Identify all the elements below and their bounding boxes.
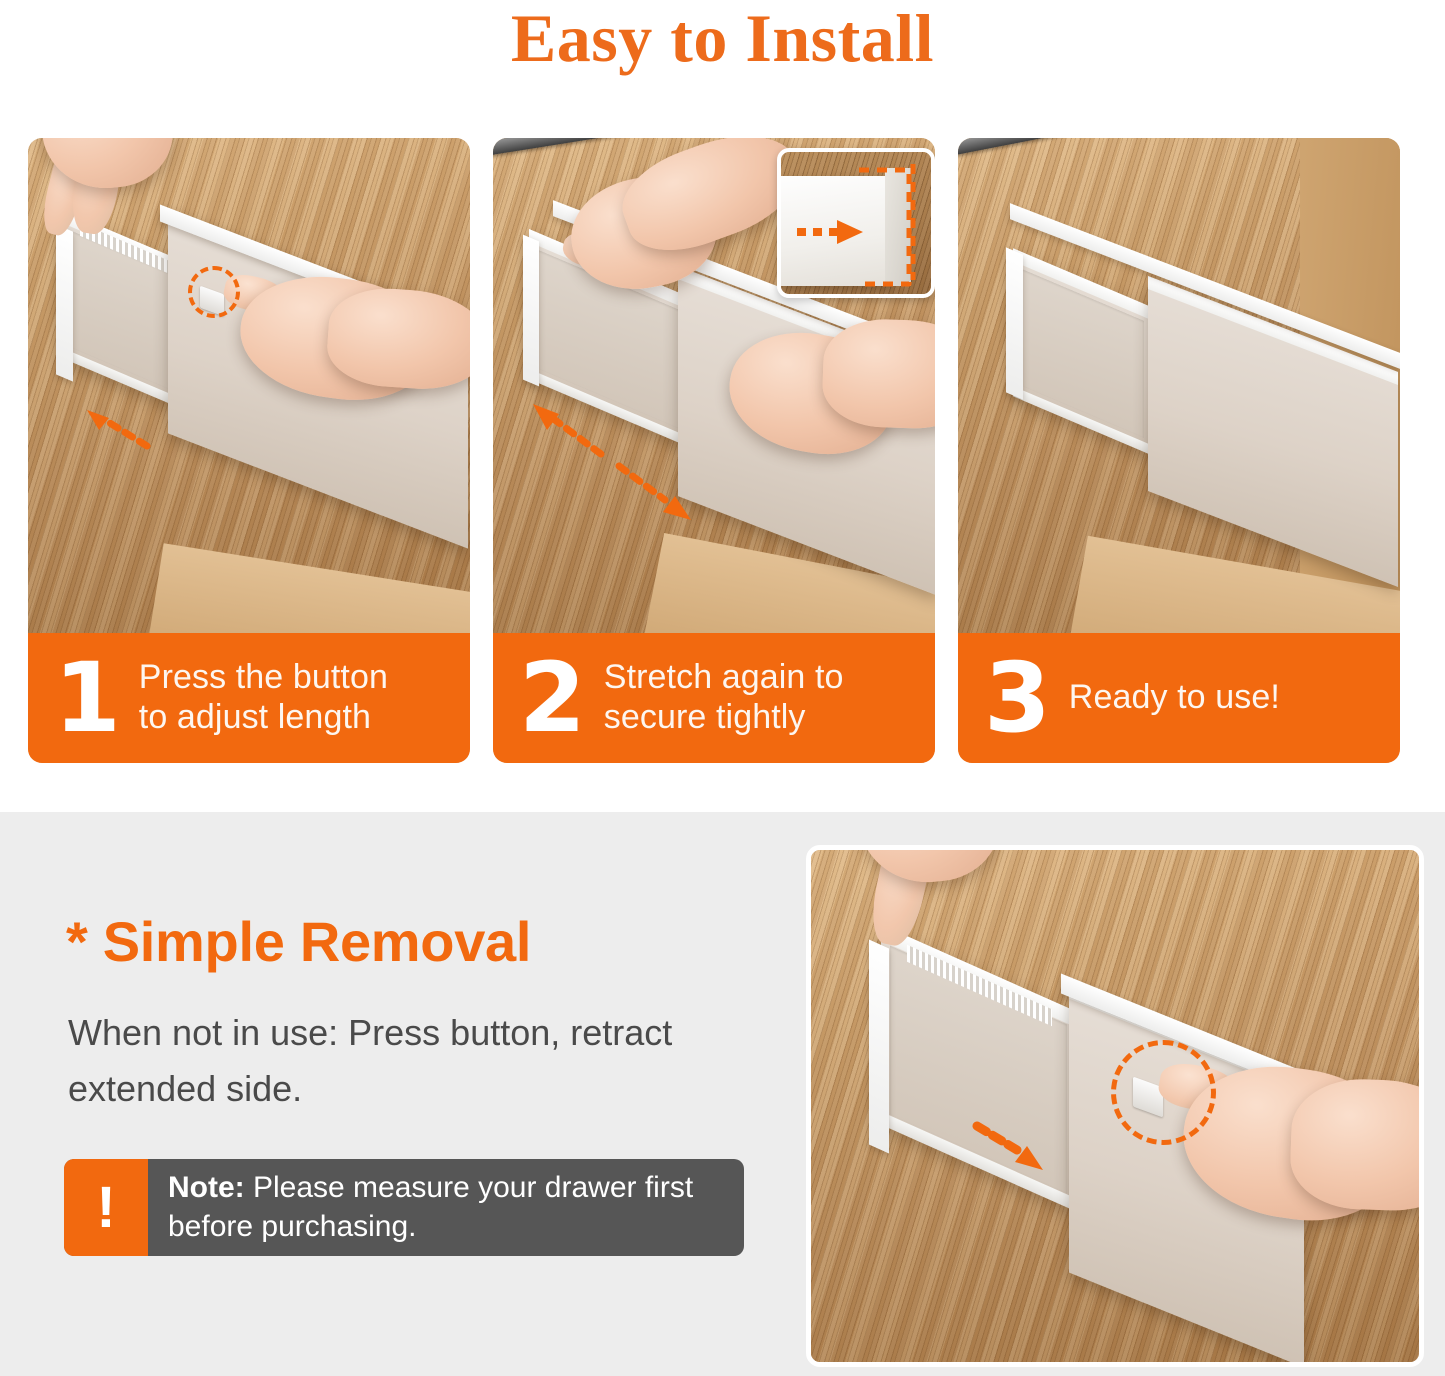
dashed-arrow-left-icon [83, 406, 153, 454]
step-1-number: 1 [54, 657, 121, 740]
step-2-photo [493, 138, 935, 633]
button-highlight-circle-icon [1111, 1040, 1216, 1145]
simple-removal-section: * Simple Removal When not in use: Press … [0, 812, 1445, 1376]
exclamation-icon: ! [64, 1159, 148, 1256]
inset-detail-box [777, 148, 935, 298]
note-label: Note: [168, 1171, 245, 1204]
note-text: Note: Please measure your drawer first b… [148, 1159, 744, 1256]
arrow-right-icon [971, 1120, 1061, 1176]
inset-dashed-outline-icon [781, 152, 935, 298]
button-highlight-circle-icon [188, 266, 240, 318]
divider-left-end-cap [1006, 247, 1023, 399]
install-steps-section: Easy to Install [0, 0, 1445, 812]
divider-left-end-cap [523, 235, 539, 387]
dashed-arrow-up-left-icon [525, 400, 615, 462]
step-3-number: 3 [984, 657, 1051, 740]
step-card-1: 1 Press the button to adjust length [28, 138, 470, 763]
step-3-label: Ready to use! [1069, 678, 1280, 718]
divider-left-end-cap [869, 940, 889, 1154]
step-2-label: Stretch again to secure tightly [604, 658, 844, 738]
forearm [1289, 1077, 1424, 1213]
removal-description: When not in use: Press button, retract e… [68, 1005, 768, 1117]
step-1-photo [28, 138, 470, 633]
note-body: Please measure your drawer first before … [168, 1171, 693, 1243]
step-3-photo [958, 138, 1400, 633]
step-2-caption-bar: 2 Stretch again to secure tightly [493, 633, 935, 763]
step-2-number: 2 [519, 657, 586, 740]
step-3-caption-bar: 3 Ready to use! [958, 633, 1400, 763]
step-card-2: 2 Stretch again to secure tightly [493, 138, 935, 763]
divider-left-end-cap [56, 224, 73, 381]
note-box: ! Note: Please measure your drawer first… [64, 1159, 744, 1256]
dashed-arrow-down-right-icon [613, 458, 708, 530]
page-title: Easy to Install [0, 4, 1445, 72]
forearm-right [821, 317, 935, 431]
step-1-caption-bar: 1 Press the button to adjust length [28, 633, 470, 763]
removal-photo [806, 845, 1424, 1367]
removal-title: * Simple Removal [66, 909, 531, 974]
step-1-label: Press the button to adjust length [139, 658, 388, 738]
step-card-3: 3 Ready to use! [958, 138, 1400, 763]
